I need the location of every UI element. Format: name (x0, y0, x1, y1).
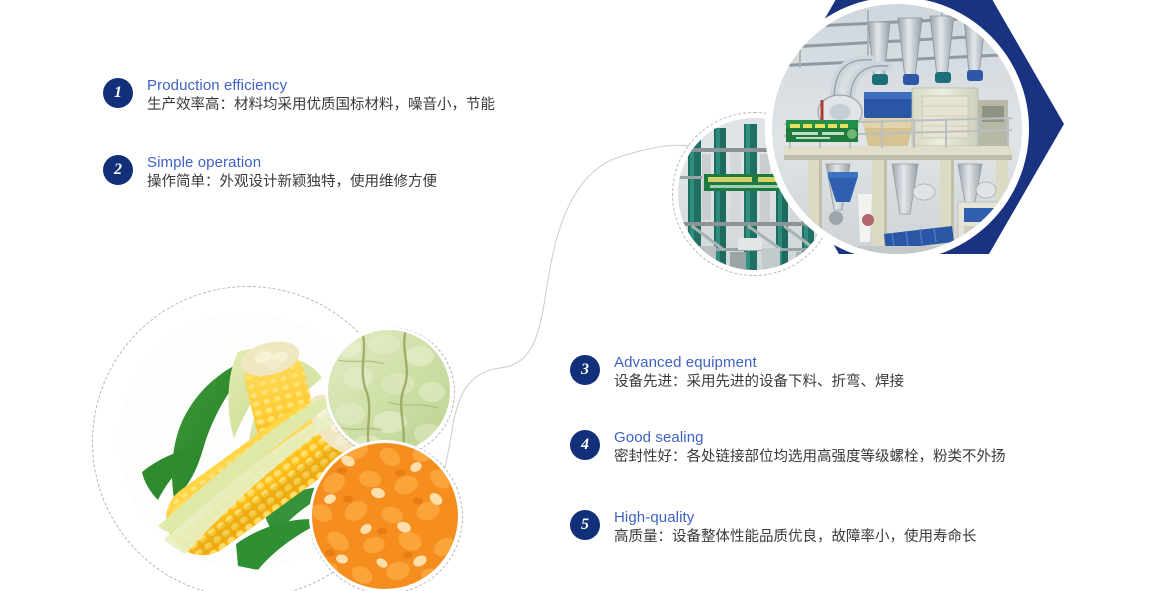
feature-body-2: 操作简单：外观设计新颖独特，使用维修方便 (147, 172, 437, 193)
feature-item-3[interactable]: 3 Advanced equipment 设备先进：采用先进的设备下料、折弯、焊… (570, 353, 904, 393)
feature-item-5[interactable]: 5 High-quality 高质量：设备整体性能品质优良，故障率小，使用寿命长 (570, 508, 977, 548)
flour-milling-plant-photo (772, 4, 1022, 254)
feature-text-4: Good sealing 密封性好：各处链接部位均选用高强度等级螺栓，粉类不外扬 (614, 428, 1006, 468)
feature-badge-4: 4 (570, 430, 600, 460)
feature-heading-5: High-quality (614, 508, 977, 527)
orange-corn-grits-photo (312, 443, 458, 589)
feature-heading-4: Good sealing (614, 428, 1006, 447)
feature-item-4[interactable]: 4 Good sealing 密封性好：各处链接部位均选用高强度等级螺栓，粉类不… (570, 428, 1006, 468)
feature-body-4: 密封性好：各处链接部位均选用高强度等级螺栓，粉类不外扬 (614, 447, 1006, 468)
feature-badge-3: 3 (570, 355, 600, 385)
feature-text-3: Advanced equipment 设备先进：采用先进的设备下料、折弯、焊接 (614, 353, 904, 393)
feature-body-5: 高质量：设备整体性能品质优良，故障率小，使用寿命长 (614, 527, 977, 548)
feature-text-5: High-quality 高质量：设备整体性能品质优良，故障率小，使用寿命长 (614, 508, 977, 548)
feature-item-1[interactable]: 1 Production efficiency 生产效率高：材料均采用优质国标材… (103, 76, 495, 116)
feature-heading-2: Simple operation (147, 153, 437, 172)
feature-badge-1: 1 (103, 78, 133, 108)
green-corn-paste-photo (328, 330, 450, 452)
feature-heading-3: Advanced equipment (614, 353, 904, 372)
feature-badge-5: 5 (570, 510, 600, 540)
feature-text-1: Production efficiency 生产效率高：材料均采用优质国标材料，… (147, 76, 495, 116)
feature-badge-2: 2 (103, 155, 133, 185)
feature-item-2[interactable]: 2 Simple operation 操作简单：外观设计新颖独特，使用维修方便 (103, 153, 437, 193)
infographic-page: 1 Production efficiency 生产效率高：材料均采用优质国标材… (0, 0, 1154, 591)
feature-text-2: Simple operation 操作简单：外观设计新颖独特，使用维修方便 (147, 153, 437, 193)
feature-heading-1: Production efficiency (147, 76, 495, 95)
feature-body-3: 设备先进：采用先进的设备下料、折弯、焊接 (614, 372, 904, 393)
feature-body-1: 生产效率高：材料均采用优质国标材料，噪音小，节能 (147, 95, 495, 116)
